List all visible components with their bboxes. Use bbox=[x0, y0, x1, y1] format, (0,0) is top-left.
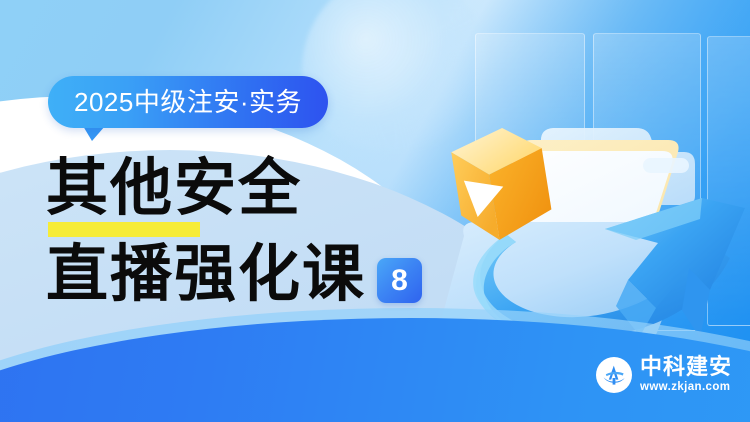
headline-block: 其他安全 直播强化课 8 bbox=[46, 150, 422, 312]
course-banner: 2025中级注安·实务 其他安全 直播强化课 8 中科建安 www bbox=[0, 0, 750, 422]
headline-row-2: 直播强化课 8 bbox=[46, 236, 422, 312]
zkjan-logo-mark bbox=[599, 360, 629, 390]
tag-bubble-tail bbox=[83, 126, 105, 141]
episode-number-label: 8 bbox=[391, 266, 408, 296]
zkjan-logo-icon bbox=[596, 357, 632, 393]
course-category-tag: 2025中级注安·实务 bbox=[48, 76, 328, 128]
brand-text: 中科建安 www.zkjan.com bbox=[640, 355, 732, 394]
headline-row-1: 其他安全 bbox=[46, 150, 422, 226]
brand-logo: 中科建安 www.zkjan.com bbox=[596, 355, 732, 394]
episode-number-badge: 8 bbox=[377, 258, 422, 303]
brand-url: www.zkjan.com bbox=[640, 380, 732, 394]
course-category-label: 2025中级注安·实务 bbox=[74, 89, 302, 115]
brand-name: 中科建安 bbox=[640, 355, 732, 378]
headline-line-2: 直播强化课 bbox=[46, 236, 366, 312]
headline-line-1: 其他安全 bbox=[46, 150, 302, 226]
hero-illustration bbox=[400, 0, 750, 350]
